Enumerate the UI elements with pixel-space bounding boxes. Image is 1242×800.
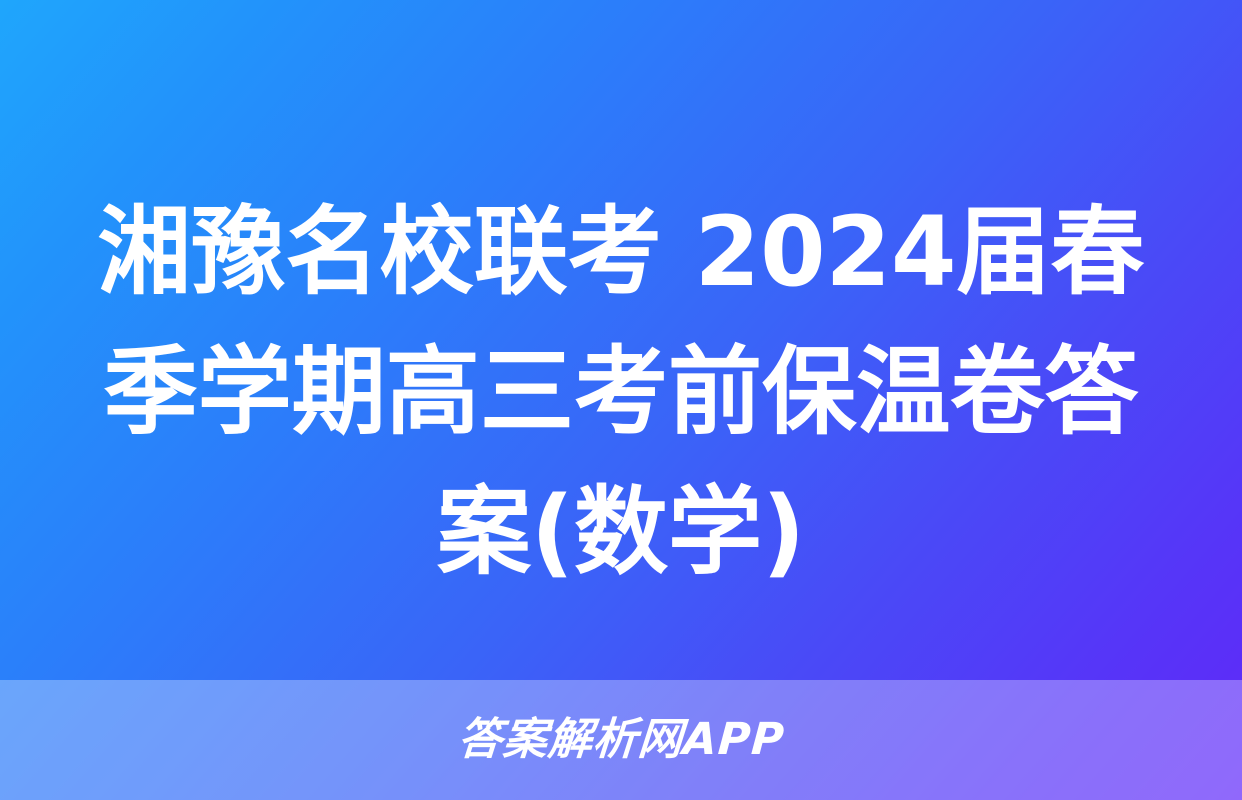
page-title: 湘豫名校联考 2024届春 季学期高三考前保温卷答 案(数学) — [0, 182, 1242, 602]
title-line-2: 季学期高三考前保温卷答 — [89, 322, 1153, 462]
brand-label: 答案解析网APP — [456, 718, 786, 762]
share-card: 湘豫名校联考 2024届春 季学期高三考前保温卷答 案(数学) 答案解析网APP — [0, 0, 1242, 800]
footer-banner: 答案解析网APP — [0, 680, 1242, 800]
title-line-3: 案(数学) — [89, 462, 1153, 602]
title-line-1: 湘豫名校联考 2024届春 — [89, 182, 1153, 322]
